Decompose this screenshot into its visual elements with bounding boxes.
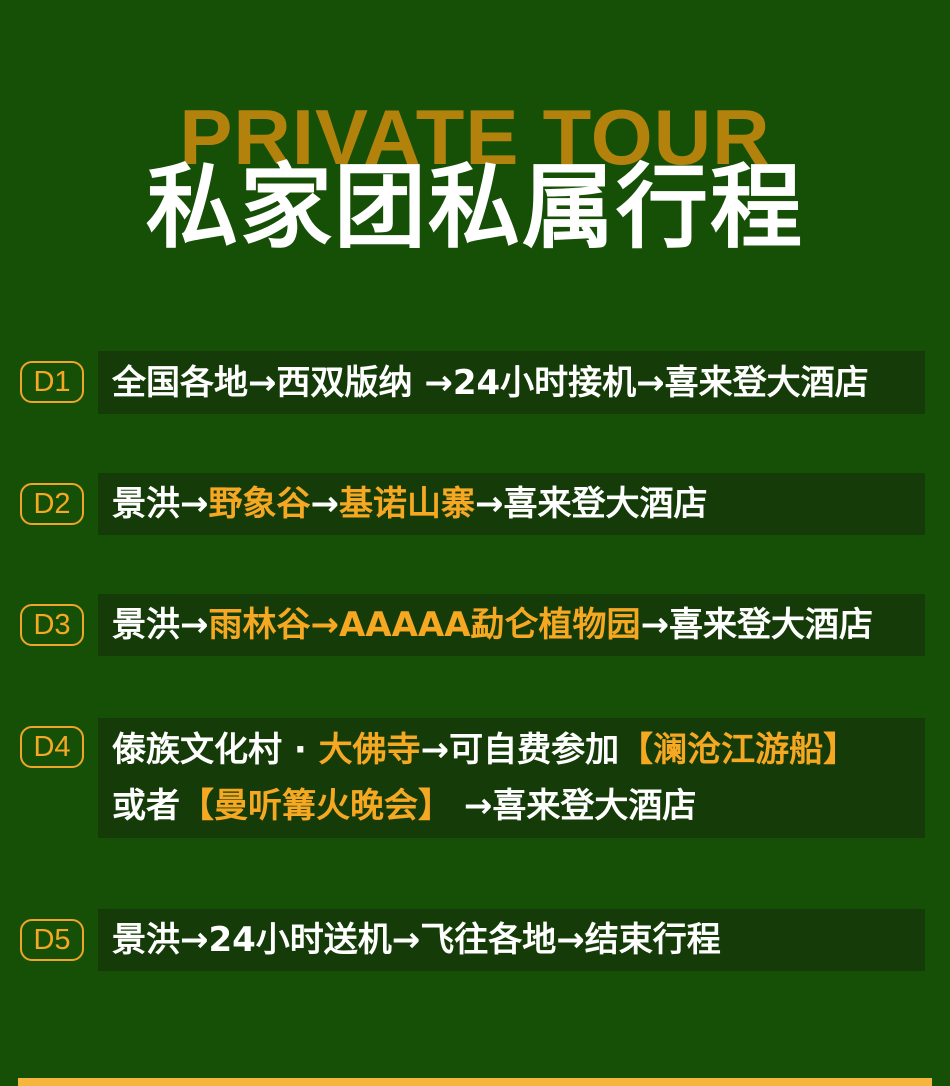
day-detail-box: 傣族文化村 · 大佛寺→可自费参加【澜沧江游船】或者【曼听篝火晚会】 →喜来登大… [98, 718, 925, 838]
day-detail-line: 全国各地→西双版纳 →24小时接机→喜来登大酒店 [112, 355, 911, 411]
day-detail-box: 景洪→雨林谷→AAAAA勐仑植物园→喜来登大酒店 [98, 594, 925, 656]
day-badge-d5: D5 [20, 919, 84, 961]
plain-segment: → [311, 484, 340, 524]
highlight-segment: 大佛寺 [319, 730, 421, 770]
private-tour-itinerary-page: PRIVATE TOUR 私家团私属行程 D1全国各地→西双版纳 →24小时接机… [0, 0, 950, 1086]
plain-segment: →喜来登大酒店 [641, 605, 874, 645]
day-badge-d4: D4 [20, 726, 84, 768]
plain-segment: →喜来登大酒店 [475, 484, 708, 524]
page-header: PRIVATE TOUR 私家团私属行程 [0, 0, 950, 300]
day-detail-line: 或者【曼听篝火晚会】 →喜来登大酒店 [112, 778, 911, 834]
day-badge-d3: D3 [20, 604, 84, 646]
day-badge-d2: D2 [20, 483, 84, 525]
day-detail-line: 景洪→雨林谷→AAAAA勐仑植物园→喜来登大酒店 [112, 597, 911, 653]
plain-segment: 或者 [112, 786, 180, 826]
day-badge-d1: D1 [20, 361, 84, 403]
plain-segment: 全国各地→西双版纳 →24小时接机→喜来登大酒店 [112, 363, 869, 403]
day-detail-line: 景洪→24小时送机→飞往各地→结束行程 [112, 912, 911, 968]
plain-segment: 景洪→24小时送机→飞往各地→结束行程 [112, 920, 721, 960]
plain-segment: 景洪→ [112, 605, 209, 645]
plain-segment: 傣族文化村 · [112, 730, 319, 770]
day-detail-line: 景洪→野象谷→基诺山寨→喜来登大酒店 [112, 476, 911, 532]
bottom-accent-bar [18, 1078, 932, 1086]
day-detail-line: 傣族文化村 · 大佛寺→可自费参加【澜沧江游船】 [112, 722, 911, 778]
plain-segment: →喜来登大酒店 [452, 786, 696, 826]
highlight-segment: 基诺山寨 [339, 484, 475, 524]
highlight-segment: 【曼听篝火晚会】 [180, 786, 452, 826]
plain-segment: 景洪→ [112, 484, 209, 524]
plain-segment: →可自费参加 [421, 730, 620, 770]
day-detail-box: 景洪→24小时送机→飞往各地→结束行程 [98, 909, 925, 971]
day-detail-box: 全国各地→西双版纳 →24小时接机→喜来登大酒店 [98, 351, 925, 414]
day-detail-box: 景洪→野象谷→基诺山寨→喜来登大酒店 [98, 473, 925, 535]
highlight-segment: 雨林谷→AAAAA勐仑植物园 [209, 605, 641, 645]
highlight-segment: 【澜沧江游船】 [619, 730, 857, 770]
page-title: 私家团私属行程 [0, 160, 950, 257]
highlight-segment: 野象谷 [209, 484, 311, 524]
